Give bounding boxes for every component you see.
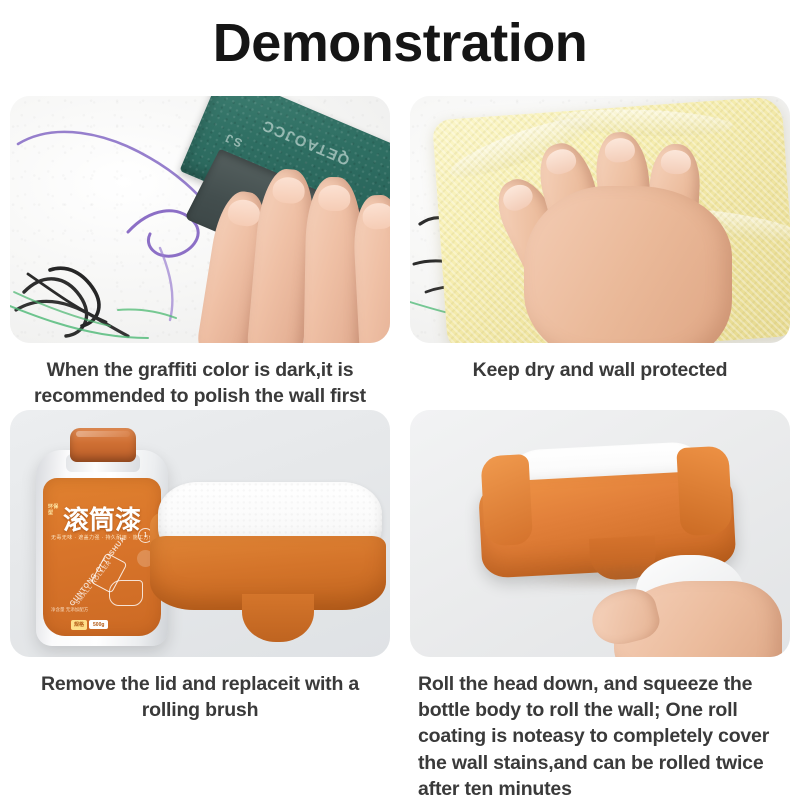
panel-caption: Roll the head down, and squeeze the bott… — [410, 657, 790, 802]
label-weight-tag: 规格 — [71, 620, 87, 630]
fingernail — [660, 149, 691, 175]
roller-brush-head — [150, 482, 386, 652]
fingernail — [362, 202, 390, 230]
bottle-label: 环保型 滚筒漆 无毒无味 · 遮盖力强 · 持久耐用 · 施工方便 GUNTON… — [43, 478, 161, 636]
hand-holding-sander — [204, 133, 390, 343]
panel-roll-wall: Roll the head down, and squeeze the bott… — [410, 410, 790, 802]
label-footer-text: 净含量 无添加配方 — [51, 607, 88, 614]
hand-squeezing-bottle — [592, 563, 782, 657]
paint-bottle: 环保型 滚筒漆 无毒无味 · 遮盖力强 · 持久耐用 · 施工方便 GUNTON… — [36, 428, 168, 646]
panel-polish-wall: QETAOJCC SJ When the graffiti color is d… — [10, 96, 390, 410]
roller-stem — [242, 594, 314, 642]
demonstration-grid: QETAOJCC SJ When the graffiti color is d… — [0, 96, 800, 802]
bottle-cap — [70, 428, 136, 462]
label-title: 滚筒漆 — [63, 500, 141, 537]
panel-caption: Remove the lid and replaceit with a roll… — [10, 657, 390, 724]
fingernail — [499, 180, 536, 215]
fingernail — [318, 185, 350, 212]
fingernail — [226, 197, 262, 228]
fingernail — [604, 137, 636, 164]
roller-end-cap-left — [480, 454, 533, 546]
finger — [303, 177, 362, 343]
label-weight-value: 500g — [89, 620, 108, 629]
photo-keep-dry — [410, 96, 790, 343]
photo-replace-lid: 环保型 滚筒漆 无毒无味 · 遮盖力强 · 持久耐用 · 施工方便 GUNTON… — [10, 410, 390, 657]
label-side-text: 环保型 — [48, 504, 62, 517]
palm — [524, 186, 732, 343]
panel-keep-dry: Keep dry and wall protected — [410, 96, 790, 410]
panel-caption: Keep dry and wall protected — [410, 343, 790, 383]
finger — [352, 194, 390, 343]
hand-wiping-wall — [502, 124, 740, 343]
roller-end-cap-right — [676, 445, 733, 536]
hand-icon — [109, 580, 143, 606]
panel-caption: When the graffiti color is dark,it is re… — [10, 343, 390, 410]
fingernail — [543, 146, 578, 177]
page-title: Demonstration — [0, 0, 800, 73]
fingernail — [272, 176, 306, 205]
panel-replace-lid: 环保型 滚筒漆 无毒无味 · 遮盖力强 · 持久耐用 · 施工方便 GUNTON… — [10, 410, 390, 802]
photo-polish-wall: QETAOJCC SJ — [10, 96, 390, 343]
label-weight-group: 规格 500g — [71, 620, 108, 630]
photo-roll-wall — [410, 410, 790, 657]
